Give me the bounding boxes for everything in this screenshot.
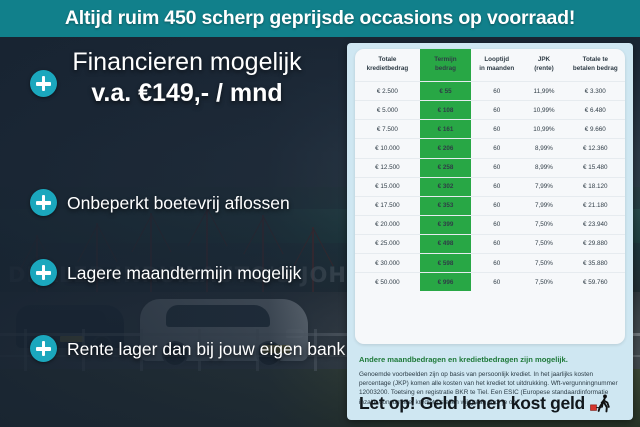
table-cell: 7,50% — [522, 234, 565, 253]
credit-warning-text: Let op! Geld lenen kost geld — [359, 393, 585, 414]
header-line2: kredietbedrag — [367, 65, 409, 72]
column-header-totaal: Totale te betalen bedrag — [566, 49, 625, 82]
table-cell: € 206 — [420, 139, 471, 158]
header-line1: Totale te — [583, 56, 608, 63]
table-row: € 2.500€ 556011,99%€ 3.300 — [355, 82, 625, 101]
table-row: € 12.500€ 258608,99%€ 15.480 — [355, 158, 625, 177]
plus-icon — [30, 259, 57, 286]
table-cell: € 50.000 — [355, 273, 420, 292]
table-cell: € 498 — [420, 234, 471, 253]
table-cell: 60 — [471, 254, 522, 273]
plus-icon — [30, 335, 57, 362]
banner-headline: Altijd ruim 450 scherp geprijsde occasio… — [65, 7, 575, 30]
table-row: € 7.500€ 1616010,99%€ 9.660 — [355, 120, 625, 139]
header-line1: Termijn — [434, 56, 456, 63]
table-cell: € 10.000 — [355, 139, 420, 158]
table-cell: € 15.480 — [566, 158, 625, 177]
table-cell: 60 — [471, 234, 522, 253]
table-cell: € 25.000 — [355, 234, 420, 253]
table-cell: € 20.000 — [355, 215, 420, 234]
table-cell: € 15.000 — [355, 177, 420, 196]
promo-copy: Financieren mogelijk v.a. €149,- / mnd F… — [0, 37, 348, 427]
table-cell: 7,99% — [522, 196, 565, 215]
table-cell: € 108 — [420, 101, 471, 120]
table-cell: 60 — [471, 215, 522, 234]
column-header-looptijd: Looptijd in maanden — [471, 49, 522, 82]
table-row: € 15.000€ 302607,99%€ 18.120 — [355, 177, 625, 196]
table-cell: 7,50% — [522, 273, 565, 292]
table-cell: 7,50% — [522, 215, 565, 234]
advertisement-banner: Altijd ruim 450 scherp geprijsde occasio… — [0, 0, 640, 427]
table-cell: € 12.500 — [355, 158, 420, 177]
table-cell: 60 — [471, 139, 522, 158]
table-cell: 60 — [471, 120, 522, 139]
table-cell: € 55 — [420, 82, 471, 101]
table-cell: € 30.000 — [355, 254, 420, 273]
plus-icon — [30, 70, 57, 97]
table-cell: 60 — [471, 177, 522, 196]
table-cell: € 12.360 — [566, 139, 625, 158]
promo-bullet-label: Lagere maandtermijn mogelijk — [67, 262, 301, 284]
table-cell: € 2.500 — [355, 82, 420, 101]
table-cell: 11,99% — [522, 82, 565, 101]
table-row: € 30.000€ 598607,50%€ 35.880 — [355, 254, 625, 273]
financing-card: Totale kredietbedrag Termijn bedrag Loop… — [347, 43, 633, 420]
table-cell: € 5.000 — [355, 101, 420, 120]
table-cell: 7,50% — [522, 254, 565, 273]
header-line2: in maanden — [479, 65, 514, 72]
credit-warning: Let op! Geld lenen kost geld — [359, 393, 612, 414]
table-cell: 60 — [471, 196, 522, 215]
rates-table: Totale kredietbedrag Termijn bedrag Loop… — [355, 49, 625, 291]
header-line1: JPK — [538, 56, 550, 63]
table-cell: € 17.500 — [355, 196, 420, 215]
table-row: € 17.500€ 353607,99%€ 21.180 — [355, 196, 625, 215]
plus-icon — [30, 189, 57, 216]
rates-table-head: Totale kredietbedrag Termijn bedrag Loop… — [355, 49, 625, 82]
table-cell: 10,99% — [522, 101, 565, 120]
afm-walking-person-icon — [590, 394, 612, 414]
promo-bullet-rente: Rente lager dan bij jouw eigen bank — [30, 335, 345, 362]
rates-table-container: Totale kredietbedrag Termijn bedrag Loop… — [355, 49, 625, 344]
table-cell: € 598 — [420, 254, 471, 273]
header-line1: Looptijd — [484, 56, 509, 63]
promo-bullet-boetevrij: Onbeperkt boetevrij aflossen — [30, 189, 290, 216]
table-cell: € 18.120 — [566, 177, 625, 196]
table-cell: € 35.880 — [566, 254, 625, 273]
table-cell: 8,99% — [522, 139, 565, 158]
table-header-row: Totale kredietbedrag Termijn bedrag Loop… — [355, 49, 625, 82]
table-cell: 60 — [471, 101, 522, 120]
table-cell: € 59.760 — [566, 273, 625, 292]
table-cell: 8,99% — [522, 158, 565, 177]
table-cell: € 258 — [420, 158, 471, 177]
table-cell: € 6.480 — [566, 101, 625, 120]
promo-bullet-label: Rente lager dan bij jouw eigen bank — [67, 338, 345, 360]
table-row: € 20.000€ 399607,50%€ 23.940 — [355, 215, 625, 234]
table-cell: € 21.180 — [566, 196, 625, 215]
table-cell: 10,99% — [522, 120, 565, 139]
top-banner: Altijd ruim 450 scherp geprijsde occasio… — [0, 0, 640, 37]
promo-bullet-financieren: Financieren mogelijk — [30, 70, 57, 97]
table-row: € 25.000€ 498607,50%€ 29.880 — [355, 234, 625, 253]
table-cell: 7,99% — [522, 177, 565, 196]
promo-headline: Financieren mogelijk v.a. €149,- / mnd — [28, 47, 346, 109]
header-line2: betalen bedrag — [573, 65, 618, 72]
promo-headline-line1: Financieren mogelijk — [28, 47, 346, 77]
column-header-jpk: JPK (rente) — [522, 49, 565, 82]
table-cell: € 29.880 — [566, 234, 625, 253]
table-cell: € 3.300 — [566, 82, 625, 101]
table-cell: € 996 — [420, 273, 471, 292]
table-cell: € 7.500 — [355, 120, 420, 139]
table-cell: 60 — [471, 273, 522, 292]
header-line2: (rente) — [534, 65, 554, 72]
table-cell: € 399 — [420, 215, 471, 234]
header-line1: Totale — [378, 56, 396, 63]
column-header-termijnbedrag: Termijn bedrag — [420, 49, 471, 82]
table-cell: € 302 — [420, 177, 471, 196]
table-cell: € 9.660 — [566, 120, 625, 139]
rates-table-body: € 2.500€ 556011,99%€ 3.300€ 5.000€ 10860… — [355, 82, 625, 292]
table-row: € 50.000€ 996607,50%€ 59.760 — [355, 273, 625, 292]
header-line2: bedrag — [435, 65, 456, 72]
promo-headline-line2: v.a. €149,- / mnd — [28, 77, 346, 109]
column-header-kredietbedrag: Totale kredietbedrag — [355, 49, 420, 82]
table-row: € 5.000€ 1086010,99%€ 6.480 — [355, 101, 625, 120]
table-cell: € 23.940 — [566, 215, 625, 234]
promo-bullet-label: Onbeperkt boetevrij aflossen — [67, 192, 290, 214]
table-cell: 60 — [471, 82, 522, 101]
table-row: € 10.000€ 206608,99%€ 12.360 — [355, 139, 625, 158]
promo-bullet-maandtermijn: Lagere maandtermijn mogelijk — [30, 259, 301, 286]
table-cell: 60 — [471, 158, 522, 177]
table-cell: € 353 — [420, 196, 471, 215]
card-note-title: Andere maandbedragen en kredietbedragen … — [359, 355, 621, 365]
table-cell: € 161 — [420, 120, 471, 139]
